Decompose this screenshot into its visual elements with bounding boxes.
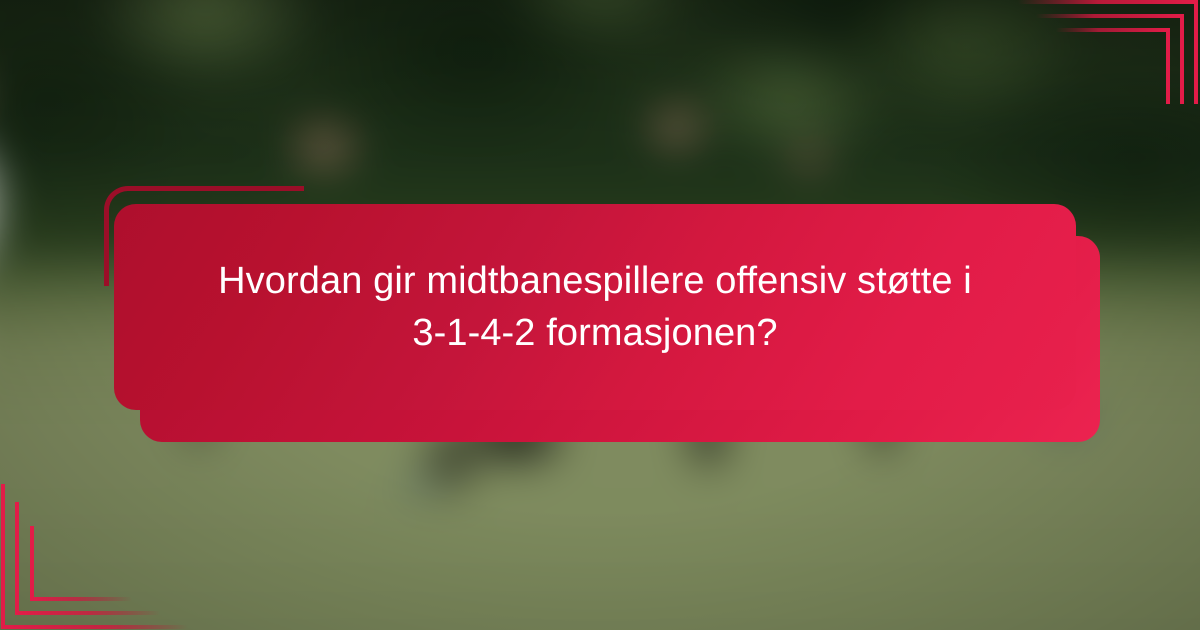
card-title: Hvordan gir midtbanespillere offensiv st… [200, 255, 990, 360]
question-card: Hvordan gir midtbanespillere offensiv st… [114, 204, 1076, 410]
share-card-canvas: Hvordan gir midtbanespillere offensiv st… [0, 0, 1200, 630]
